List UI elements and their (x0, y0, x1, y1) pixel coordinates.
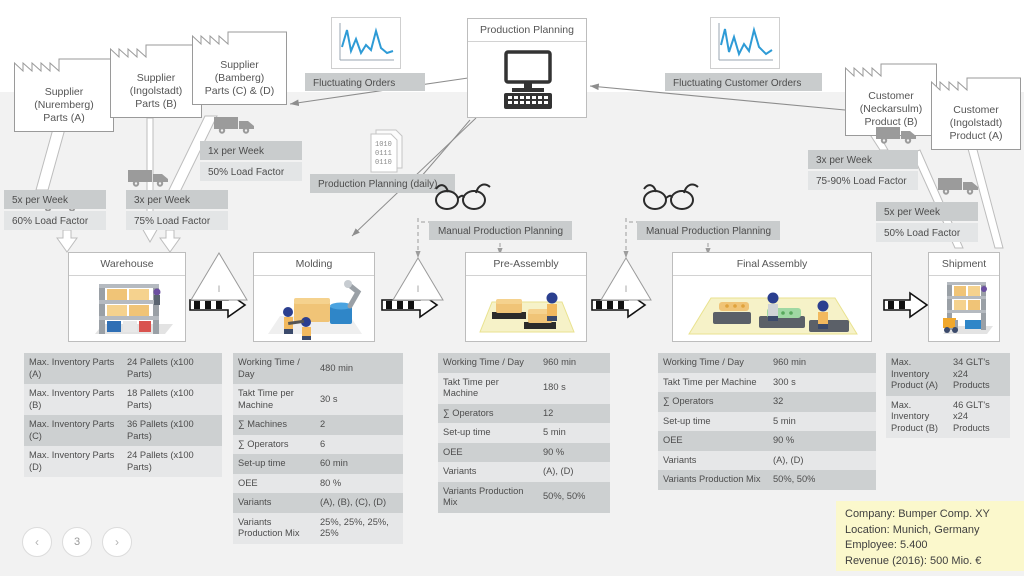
table-row: Variants (A), (B), (C), (D) (233, 493, 403, 513)
monitor-keyboard-icon (468, 42, 586, 117)
supplier-bamberg-line-2: (Bamberg) (205, 72, 274, 85)
glasses-icon-left (432, 183, 494, 213)
inventory-marker-3-label: I (601, 284, 651, 294)
supplier-b-frequency: 3x per Week (126, 190, 228, 209)
customer-b-load-factor: 75-90% Load Factor (808, 171, 918, 190)
table-cell-key: ∑ Operators (658, 392, 768, 412)
process-warehouse-title: Warehouse (69, 253, 185, 276)
table-cell-value: 90 % (538, 443, 610, 463)
table-cell-value: 180 s (538, 373, 610, 404)
table-cell-value: 90 % (768, 431, 876, 451)
table-cell-value: 32 (768, 392, 876, 412)
data-bits-line-1: 1010 (375, 141, 392, 149)
supplier-nuremberg-line-1: Supplier (34, 86, 94, 99)
table-cell-value: 18 Pallets (x100 Parts) (122, 384, 222, 415)
data-bits-line-3: 0110 (375, 159, 392, 167)
pallet-rack-icon (69, 276, 185, 341)
table-cell-key: Max. Inventory Product (B) (886, 396, 948, 439)
inventory-marker-3: I (601, 258, 651, 300)
supplier-bamberg-line-1: Supplier (205, 59, 274, 72)
table-cell-value: 5 min (538, 423, 610, 443)
production-planning-box[interactable]: Production Planning (467, 18, 587, 118)
table-cell-value: 25%, 25%, 25%, 25% (315, 513, 403, 544)
customer-ingolstadt-line-2: (Ingolstadt) (949, 117, 1002, 130)
table-cell-key: Variants (658, 451, 768, 471)
table-cell-value: 300 s (768, 373, 876, 393)
chevron-right-icon: › (115, 535, 119, 549)
table-shipment: Max. Inventory Product (A) 34 GLT's x24 … (886, 353, 1010, 438)
table-cell-value: 480 min (315, 353, 403, 384)
table-cell-value: 50%, 50% (768, 470, 876, 490)
customer-ingolstadt-line-3: Product (A) (949, 130, 1002, 143)
supplier-bamberg[interactable]: Supplier (Bamberg) Parts (C) & (D) (192, 30, 287, 105)
supplier-cd-frequency: 1x per Week (200, 141, 302, 160)
table-row: Variants (A), (D) (438, 462, 610, 482)
glasses-icon-right (640, 183, 702, 213)
process-warehouse[interactable]: Warehouse (68, 252, 186, 342)
data-bits-line-2: 0111 (375, 150, 392, 158)
table-cell-key: Working Time / Day (658, 353, 768, 373)
process-molding[interactable]: Molding (253, 252, 375, 342)
inventory-marker-2-label: I (393, 284, 443, 294)
factory-roof-icon (14, 57, 114, 81)
supplier-nuremberg[interactable]: Supplier (Nuremberg) Parts (A) (14, 57, 114, 132)
table-cell-key: Variants Production Mix (658, 470, 768, 490)
table-cell-key: Variants Production Mix (438, 482, 538, 513)
value-stream-map-canvas: Supplier (Nuremberg) Parts (A) Supplier … (0, 0, 1024, 576)
table-row: Variants (A), (D) (658, 451, 876, 471)
table-row: Variants Production Mix 50%, 50% (658, 470, 876, 490)
table-cell-value: 2 (315, 415, 403, 435)
table-cell-key: Variants (233, 493, 315, 513)
supplier-ingolstadt[interactable]: Supplier (Ingolstadt) Parts (B) (110, 43, 202, 118)
pre-assembly-icon (466, 276, 586, 341)
table-cell-key: Set-up time (233, 454, 315, 474)
supplier-nuremberg-line-3: Parts (A) (34, 112, 94, 125)
table-cell-key: Takt Time per Machine (438, 373, 538, 404)
customer-a-load-factor: 50% Load Factor (876, 223, 978, 242)
table-row: ∑ Operators 12 (438, 404, 610, 424)
process-shipment-title: Shipment (929, 253, 999, 276)
prev-page-button[interactable]: ‹ (22, 527, 52, 557)
table-row: Variants Production Mix 50%, 50% (438, 482, 610, 513)
table-cell-key: Variants (438, 462, 538, 482)
truck-icon-customer-b (874, 122, 922, 146)
table-cell-key: Set-up time (438, 423, 538, 443)
table-row: Max. Inventory Parts (D) 24 Pallets (x10… (24, 446, 222, 477)
supplier-bamberg-line-3: Parts (C) & (D) (205, 85, 274, 98)
truck-icon-customer-a (936, 173, 984, 197)
table-row: Takt Time per Machine 180 s (438, 373, 610, 404)
inventory-marker-1: I (191, 253, 247, 300)
table-cell-key: Takt Time per Machine (233, 384, 315, 415)
table-cell-value: 24 Pallets (x100 Parts) (122, 353, 222, 384)
table-row: Working Time / Day 960 min (438, 353, 610, 373)
next-page-button[interactable]: › (102, 527, 132, 557)
inventory-marker-2: I (393, 258, 443, 300)
factory-roof-icon (110, 43, 202, 67)
table-row: Max. Inventory Parts (B) 18 Pallets (x10… (24, 384, 222, 415)
table-row: Set-up time 5 min (658, 412, 876, 432)
table-cell-value: 36 Pallets (x100 Parts) (122, 415, 222, 446)
manual-production-planning-right: Manual Production Planning (637, 221, 780, 240)
table-cell-key: Max. Inventory Parts (B) (24, 384, 122, 415)
supplier-a-load-factor: 60% Load Factor (4, 211, 106, 230)
inventory-marker-1-label: I (191, 284, 247, 294)
customer-b-frequency: 3x per Week (808, 150, 918, 169)
table-row: Working Time / Day 480 min (233, 353, 403, 384)
current-page-indicator[interactable]: 3 (62, 527, 92, 557)
supplier-ingolstadt-line-3: Parts (B) (130, 98, 183, 111)
customer-neckarsulm-line-1: Customer (860, 90, 922, 103)
production-planning-icon-area (468, 42, 586, 117)
fluctuating-orders-chart (331, 17, 401, 69)
supplier-a-frequency: 5x per Week (4, 190, 106, 209)
process-pre-assembly[interactable]: Pre-Assembly (465, 252, 587, 342)
pagination[interactable]: ‹ 3 › (22, 527, 132, 557)
supplier-b-load-factor: 75% Load Factor (126, 211, 228, 230)
supplier-ingolstadt-line-1: Supplier (130, 72, 183, 85)
table-cell-key: Max. Inventory Parts (D) (24, 446, 122, 477)
process-final-assembly-title: Final Assembly (673, 253, 871, 276)
legend-employee: Employee: 5.400 (845, 538, 1015, 554)
table-cell-key: Max. Inventory Product (A) (886, 353, 948, 396)
table-cell-value: (A), (B), (C), (D) (315, 493, 403, 513)
table-row: OEE 90 % (658, 431, 876, 451)
table-row: ∑ Operators 6 (233, 435, 403, 455)
customer-a-frequency: 5x per Week (876, 202, 978, 221)
factory-roof-icon (931, 76, 1021, 100)
table-pre-assembly: Working Time / Day 960 min Takt Time per… (438, 353, 610, 513)
final-assembly-icon (673, 276, 871, 341)
table-cell-value: 80 % (315, 474, 403, 494)
customer-ingolstadt[interactable]: Customer (Ingolstadt) Product (A) (931, 76, 1021, 150)
table-row: ∑ Machines 2 (233, 415, 403, 435)
manual-production-planning-left: Manual Production Planning (429, 221, 572, 240)
legend-company: Company: Bumper Comp. XY (845, 507, 1015, 523)
table-row: Max. Inventory Parts (A) 24 Pallets (x10… (24, 353, 222, 384)
table-cell-value: 5 min (768, 412, 876, 432)
table-row: OEE 90 % (438, 443, 610, 463)
table-cell-value: 960 min (538, 353, 610, 373)
table-cell-value: 12 (538, 404, 610, 424)
process-pre-assembly-title: Pre-Assembly (466, 253, 586, 276)
supplier-nuremberg-line-2: (Nuremberg) (34, 99, 94, 112)
table-cell-value: 50%, 50% (538, 482, 610, 513)
table-cell-key: Takt Time per Machine (658, 373, 768, 393)
table-cell-key: Working Time / Day (438, 353, 538, 373)
table-row: Working Time / Day 960 min (658, 353, 876, 373)
table-cell-value: 60 min (315, 454, 403, 474)
table-cell-key: ∑ Operators (233, 435, 315, 455)
customer-ingolstadt-line-1: Customer (949, 104, 1002, 117)
table-row: Set-up time 5 min (438, 423, 610, 443)
table-cell-key: Working Time / Day (233, 353, 315, 384)
table-cell-key: Max. Inventory Parts (C) (24, 415, 122, 446)
process-shipment[interactable]: Shipment (928, 252, 1000, 342)
table-cell-key: Max. Inventory Parts (A) (24, 353, 122, 384)
data-document-icon: 1010 0111 0110 (366, 126, 408, 174)
table-final-assembly: Working Time / Day 960 min Takt Time per… (658, 353, 876, 490)
forklift-rack-icon (929, 276, 999, 341)
process-final-assembly[interactable]: Final Assembly (672, 252, 872, 342)
production-planning-title: Production Planning (468, 19, 586, 42)
table-cell-value: 34 GLT's x24 Products (948, 353, 1010, 396)
table-cell-value: 960 min (768, 353, 876, 373)
table-row: Set-up time 60 min (233, 454, 403, 474)
table-cell-key: ∑ Operators (438, 404, 538, 424)
factory-roof-icon (845, 62, 937, 86)
table-row: ∑ Operators 32 (658, 392, 876, 412)
table-row: OEE 80 % (233, 474, 403, 494)
truck-icon-supplier-cd (212, 112, 260, 136)
table-cell-value: 6 (315, 435, 403, 455)
table-cell-key: OEE (233, 474, 315, 494)
legend-location: Location: Munich, Germany (845, 523, 1015, 539)
table-cell-key: Set-up time (658, 412, 768, 432)
customer-neckarsulm-line-2: (Neckarsulm) (860, 103, 922, 116)
legend-revenue: Revenue (2016): 500 Mio. € (845, 554, 1015, 570)
table-row: Variants Production Mix 25%, 25%, 25%, 2… (233, 513, 403, 544)
truck-icon-supplier-b (126, 165, 174, 189)
fluctuating-orders-label: Fluctuating Orders (305, 73, 425, 91)
process-molding-title: Molding (254, 253, 374, 276)
table-cell-value: (A), (D) (768, 451, 876, 471)
table-cell-key: OEE (438, 443, 538, 463)
fluctuating-customer-orders-chart (710, 17, 780, 69)
company-info-legend: Company: Bumper Comp. XY Location: Munic… (836, 501, 1024, 571)
table-row: Max. Inventory Product (A) 34 GLT's x24 … (886, 353, 1010, 396)
table-cell-value: 24 Pallets (x100 Parts) (122, 446, 222, 477)
table-row: Takt Time per Machine 30 s (233, 384, 403, 415)
factory-roof-icon (192, 30, 287, 54)
table-cell-key: ∑ Machines (233, 415, 315, 435)
table-cell-key: Variants Production Mix (233, 513, 315, 544)
table-row: Max. Inventory Product (B) 46 GLT's x24 … (886, 396, 1010, 439)
table-row: Takt Time per Machine 300 s (658, 373, 876, 393)
fluctuating-customer-orders-label: Fluctuating Customer Orders (665, 73, 822, 91)
table-cell-value: 30 s (315, 384, 403, 415)
supplier-ingolstadt-line-2: (Ingolstadt) (130, 85, 183, 98)
table-cell-value: (A), (D) (538, 462, 610, 482)
table-row: Max. Inventory Parts (C) 36 Pallets (x10… (24, 415, 222, 446)
table-warehouse: Max. Inventory Parts (A) 24 Pallets (x10… (24, 353, 222, 477)
chevron-left-icon: ‹ (35, 535, 39, 549)
table-cell-value: 46 GLT's x24 Products (948, 396, 1010, 439)
table-cell-key: OEE (658, 431, 768, 451)
table-molding: Working Time / Day 480 min Takt Time per… (233, 353, 403, 544)
molding-robot-icon (254, 276, 374, 341)
supplier-cd-load-factor: 50% Load Factor (200, 162, 302, 181)
